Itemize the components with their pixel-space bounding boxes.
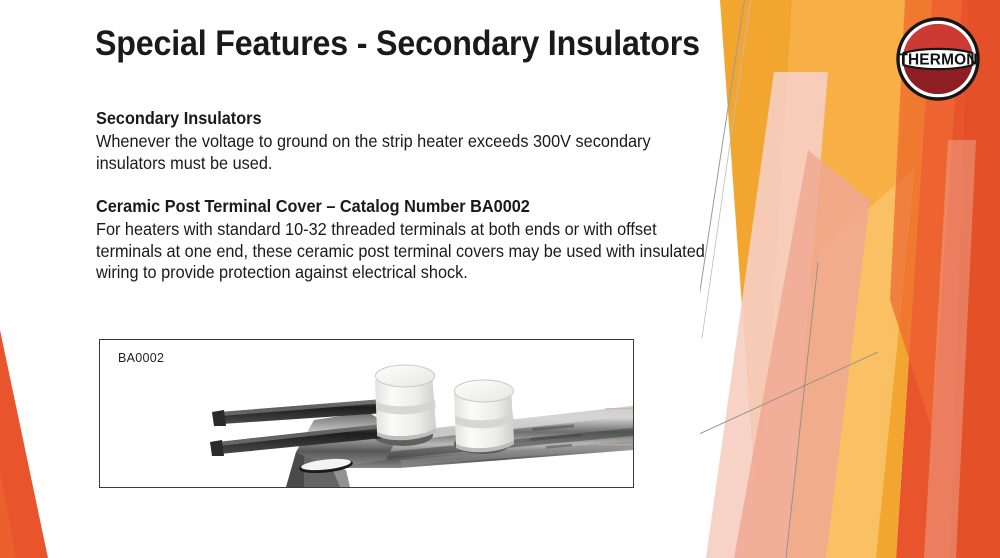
- thermon-logo: THERMON: [896, 17, 980, 101]
- block-paragraph: Whenever the voltage to ground on the st…: [96, 131, 710, 174]
- block-paragraph: For heaters with standard 10-32 threaded…: [96, 219, 710, 284]
- block-heading: Ceramic Post Terminal Cover – Catalog Nu…: [96, 196, 710, 217]
- product-photo: [100, 340, 633, 487]
- product-figure: BA0002: [99, 339, 634, 488]
- page-title: Special Features - Secondary Insulators: [95, 24, 684, 64]
- logo-wordmark: THERMON: [898, 51, 977, 68]
- content-block-ceramic-post-terminal-cover: Ceramic Post Terminal Cover – Catalog Nu…: [96, 196, 710, 284]
- content-body: Secondary Insulators Whenever the voltag…: [96, 108, 710, 284]
- content-block-secondary-insulators: Secondary Insulators Whenever the voltag…: [96, 108, 710, 174]
- slide-canvas: THERMON Special Features - Secondary Ins…: [0, 0, 1000, 558]
- figure-label: BA0002: [118, 351, 164, 365]
- block-heading: Secondary Insulators: [96, 108, 710, 129]
